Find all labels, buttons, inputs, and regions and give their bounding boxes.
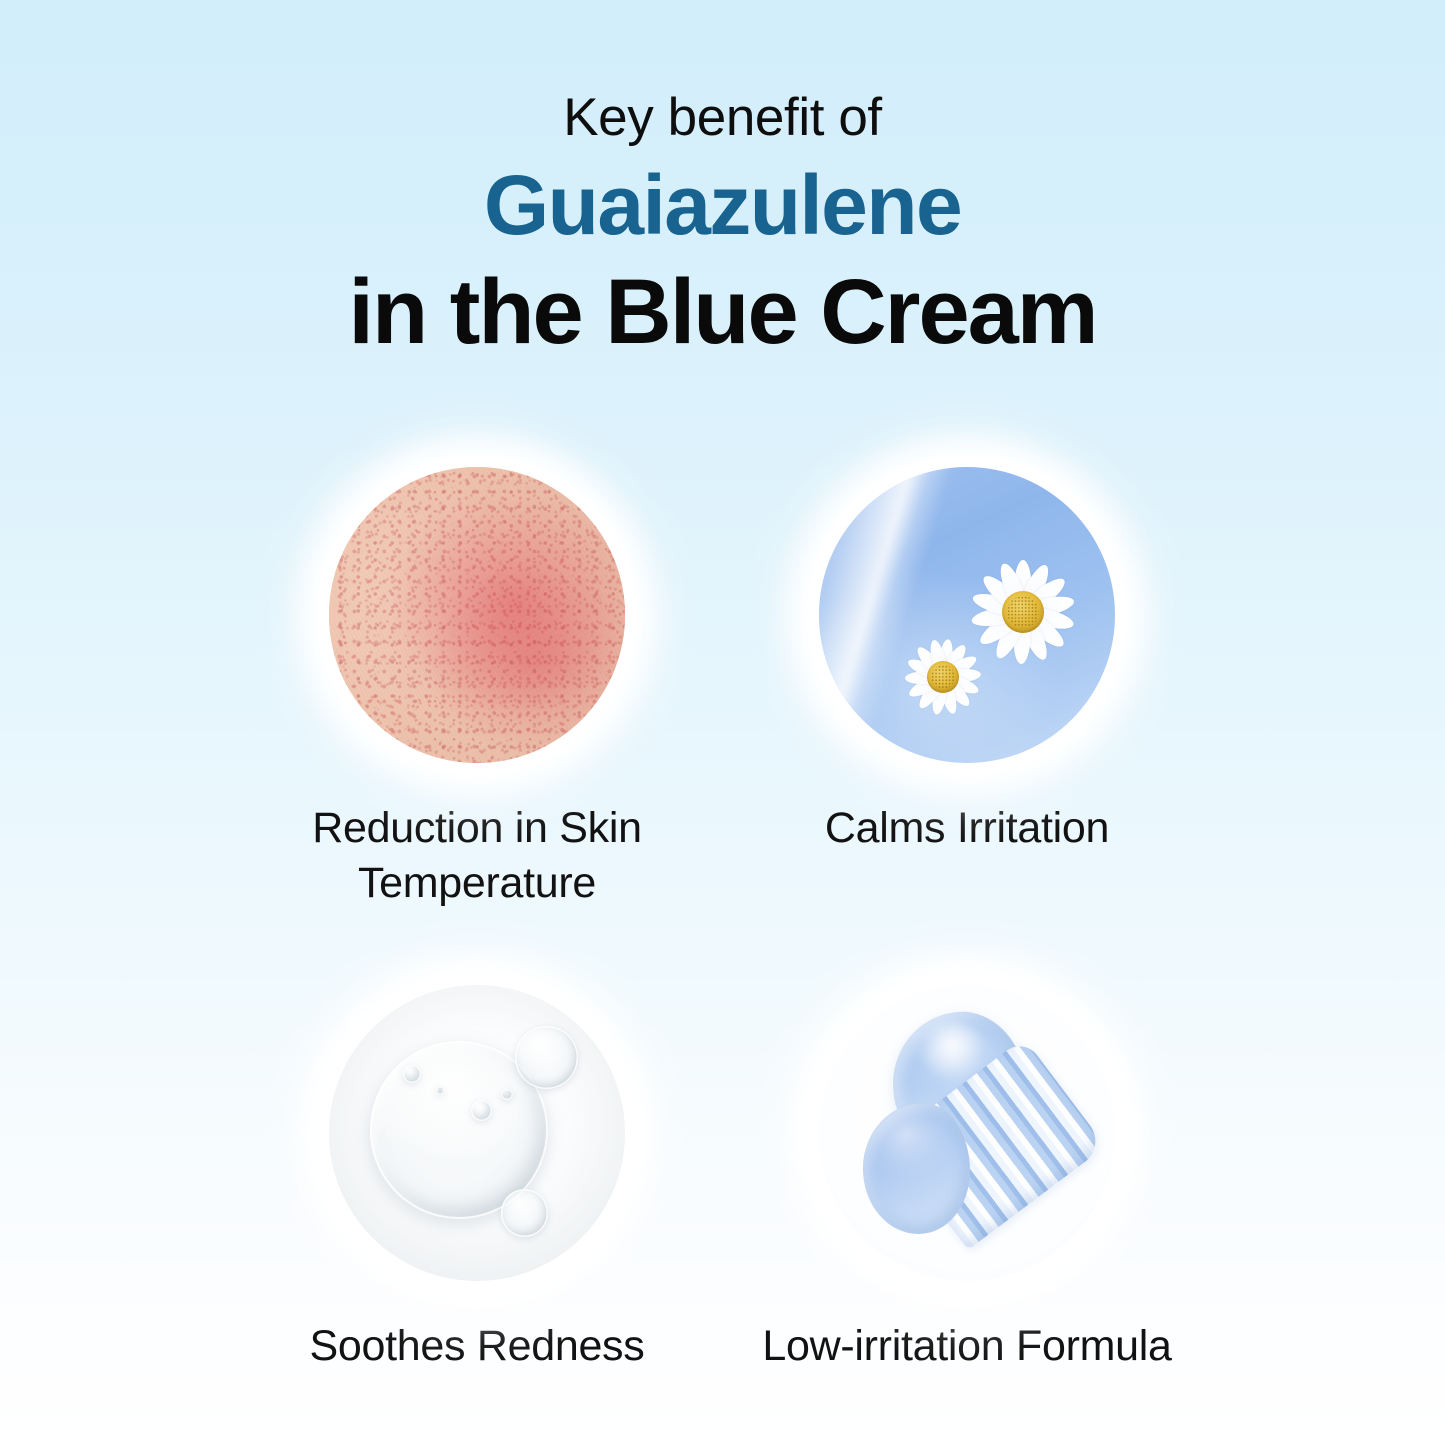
benefit-caption: Reduction in Skin Temperature [267,801,687,911]
daisy-yellow-center [1002,591,1044,633]
daisy-yellow-center [927,661,959,693]
inflamed-red-skin-closeup-photo [329,467,625,763]
benefit-circle-frame [317,455,637,775]
benefit-circle-frame [317,973,637,1293]
chamomile-flower-small [896,630,990,724]
benefit-caption: Low-irritation Formula [757,1319,1177,1374]
clear-gel-droplet-with-bubbles-photo [329,985,625,1281]
heading-block: Key benefit of Guaiazulene in the Blue C… [0,86,1445,364]
gel-bubble-top-right [515,1026,577,1088]
benefit-item-low-irritation-formula: Low-irritation Formula [722,973,1212,1374]
benefit-circle-frame [807,973,1127,1293]
gel-bubble-small-right [501,1089,513,1101]
benefit-caption: Soothes Redness [267,1319,687,1374]
benefit-item-reduction-in-skin-temperature: Reduction in Skin Temperature [232,455,722,911]
gel-bubble-small-left [403,1065,421,1083]
gel-bubble-center [471,1100,492,1121]
benefit-caption: Calms Irritation [757,801,1177,856]
benefit-grid: Reduction in Skin Temperature [232,455,1212,1374]
benefit-item-soothes-redness: Soothes Redness [232,973,722,1374]
blue-cream-texture-swatch-photo [819,985,1115,1281]
cream-highlight-gloss [920,1023,985,1082]
ingredient-title: Guaiazulene [0,150,1445,260]
key-benefit-infographic: Key benefit of Guaiazulene in the Blue C… [0,0,1445,1445]
benefit-circle-frame [807,455,1127,775]
gel-bubble-bottom-right [501,1189,548,1236]
benefit-item-calms-irritation: Calms Irritation [722,455,1212,911]
product-line-title: in the Blue Cream [0,260,1445,364]
cream-blob-lower [863,1103,970,1233]
eyebrow-text: Key benefit of [0,86,1445,150]
skin-pore-texture-layer [329,467,625,763]
gel-bubble-tiny-mid [436,1086,445,1095]
chamomile-daisies-on-blue-gel-photo [819,467,1115,763]
